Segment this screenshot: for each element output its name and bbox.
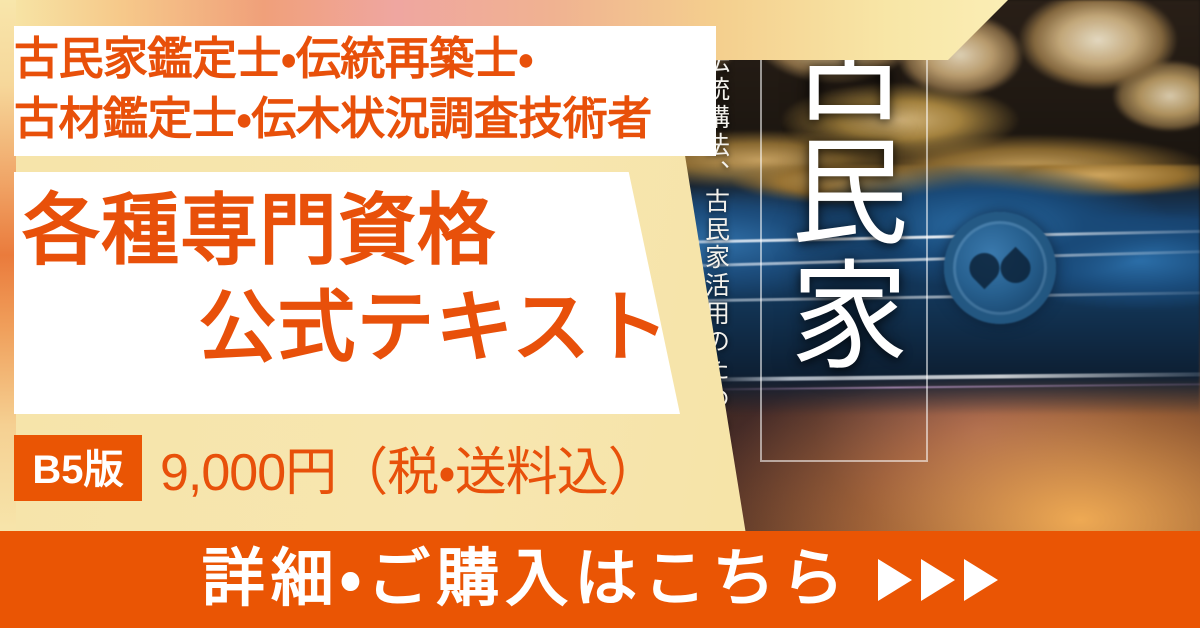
qualifications-line-2: 古材鑑定士・伝木状況調査技術者 [14,89,714,149]
promo-banner: 伝統構法、古民家活用のための調査と再生の 古民家 古民家鑑定士・伝統再築士・ 古… [0,0,1200,628]
main-title: 各種専門資格 公式テキスト [14,182,674,375]
price-row: B5版 9,000円（税・送料込） [14,430,659,505]
chevron-right-icon [964,559,998,601]
qualifications-headline: 古民家鑑定士・伝統再築士・ 古材鑑定士・伝木状況調査技術者 [14,29,714,149]
price-amount: 9,000円（税・送料込） [160,430,659,505]
chevron-right-icon [878,559,912,601]
chevron-right-icon [921,559,955,601]
qualifications-line-1: 古民家鑑定士・伝統再築士・ [14,29,714,89]
main-title-line-1: 各種専門資格 [14,182,674,279]
cta-button[interactable]: 詳細・ご購入はこちら [0,531,1200,628]
format-badge: B5版 [14,435,142,501]
family-crest-medallion [944,212,1056,324]
main-title-line-2: 公式テキスト [14,279,674,376]
cta-arrows [878,559,998,601]
cta-label: 詳細・ご購入はこちら [202,548,850,611]
book-cover-title: 古民家 [784,6,904,378]
